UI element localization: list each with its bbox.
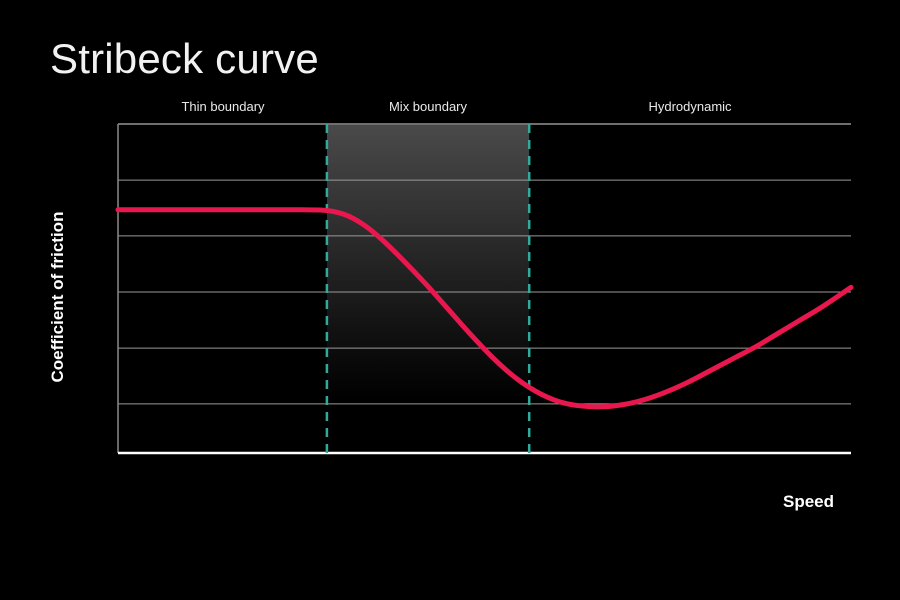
region-label-thin-boundary: Thin boundary (181, 99, 264, 114)
region-label-mix-boundary: Mix boundary (389, 99, 467, 114)
y-axis-title: Coefficient of friction (48, 177, 68, 417)
plot-area (118, 124, 851, 454)
x-axis-title: Speed (783, 492, 834, 512)
chart-svg (118, 124, 851, 454)
region-label-hydrodynamic: Hydrodynamic (648, 99, 731, 114)
chart-canvas: Stribeck curve Thin boundary Mix boundar… (0, 0, 900, 600)
chart-title: Stribeck curve (50, 36, 319, 82)
